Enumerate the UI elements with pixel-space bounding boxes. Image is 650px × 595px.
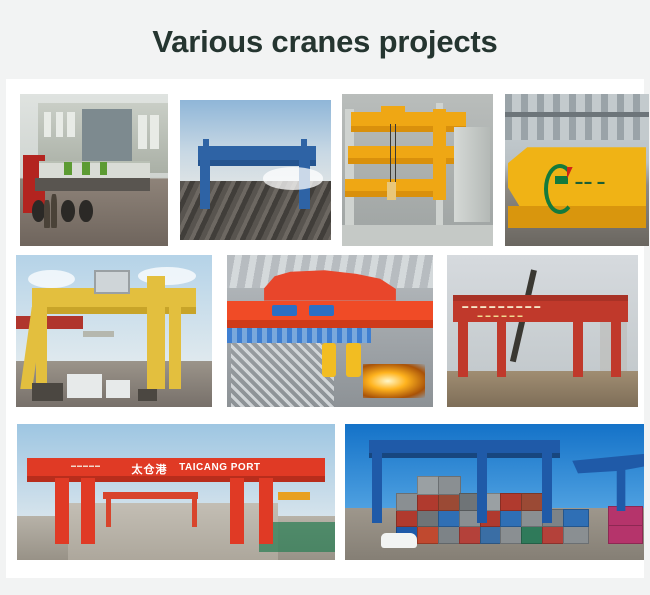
rtg-leg [477, 453, 487, 524]
gantry-leg [200, 150, 211, 209]
hoist-rope [390, 124, 391, 185]
lifting-hook-right [346, 343, 360, 376]
window [138, 115, 147, 148]
container-spreader [278, 492, 310, 500]
container [563, 525, 589, 543]
container [563, 509, 589, 527]
gantry-leg [573, 316, 583, 377]
window [67, 112, 74, 136]
gallery-row-2: ▬▬▬▬▬▬▬▬▬ ▬▬▬▬▬▬ [16, 255, 638, 407]
rtg-main-beam [369, 440, 560, 452]
company-logo-bar [555, 176, 568, 184]
container [417, 493, 440, 511]
gallery-photo-4[interactable]: G ▬▬ ▬ [505, 94, 649, 246]
container [500, 509, 523, 527]
crane-hook-block [387, 182, 396, 200]
container [396, 509, 419, 527]
truck-wheel [79, 200, 92, 221]
gantry-leg [81, 478, 95, 543]
gallery-row-3: 太仓港 TAICANG PORT ▬▬▬▬▬ [17, 424, 644, 560]
gantry-leg [55, 478, 69, 543]
container [608, 506, 643, 526]
gallery-photo-1[interactable] [20, 94, 168, 246]
rtg-leg [542, 453, 552, 524]
container [608, 524, 643, 544]
photo-2-scene [180, 100, 331, 240]
container [500, 525, 523, 543]
rtg-lower-beam [369, 453, 560, 458]
container [500, 493, 523, 511]
gallery-photo-3[interactable] [342, 94, 493, 246]
gantry-leg [497, 316, 507, 377]
girder-marking [100, 162, 107, 174]
gallery-photo-7[interactable]: ▬▬▬▬▬▬▬▬▬ ▬▬▬▬▬▬ [447, 255, 638, 407]
page-title: Various cranes projects [0, 24, 650, 60]
crane-girder-lower-flange [508, 206, 646, 227]
container [417, 525, 440, 543]
window [44, 112, 51, 136]
photo-3-scene [342, 94, 493, 246]
container [521, 525, 544, 543]
warning-plate-left [272, 305, 297, 316]
workshop-floor [342, 225, 493, 246]
rtg-leg [372, 453, 382, 524]
workshop-panel [454, 127, 490, 221]
workshop-roof [505, 94, 649, 140]
truck-wheel [61, 200, 74, 221]
white-car [381, 533, 417, 548]
gallery-photo-9[interactable] [345, 424, 644, 560]
gallery-photo-6[interactable] [227, 255, 433, 407]
roof-truss [505, 112, 649, 117]
overhead-crane-girder-shadow [351, 126, 466, 132]
container [396, 493, 419, 511]
crane-trolley [381, 106, 405, 115]
photo-4-scene: G ▬▬ ▬ [505, 94, 649, 246]
truck-dark [138, 389, 158, 401]
background-building [16, 316, 83, 330]
hoist-rope [395, 124, 396, 185]
gallery-page: Various cranes projects [0, 0, 650, 595]
gantry-leg [611, 316, 621, 377]
container [459, 525, 482, 543]
crane-end-carriage [433, 109, 447, 200]
terminal-roadway [68, 503, 278, 560]
second-gantry-leg [192, 497, 197, 527]
cloud [263, 167, 323, 189]
container [480, 525, 503, 543]
photo-1-scene [20, 94, 168, 246]
plant-scaffolding [231, 343, 334, 407]
container [438, 476, 461, 494]
truck-dark [32, 383, 63, 401]
photo-9-scene [345, 424, 644, 560]
gallery-photo-5[interactable] [16, 255, 212, 407]
gantry-lower-beam [27, 476, 326, 483]
factory-wall-dark [82, 109, 132, 167]
window [150, 115, 159, 148]
container [438, 493, 461, 511]
worker-figure [51, 194, 57, 227]
window [56, 112, 63, 136]
container [438, 509, 461, 527]
girder-marking [64, 162, 71, 174]
gantry-leg [458, 316, 468, 377]
second-gantry-leg [106, 497, 111, 527]
girder-marking [82, 162, 89, 174]
gallery-photo-2[interactable] [180, 100, 331, 240]
operator-cabin [94, 270, 129, 294]
photo-5-scene [16, 255, 212, 407]
container [438, 525, 461, 543]
gallery-photo-8[interactable]: 太仓港 TAICANG PORT ▬▬▬▬▬ [17, 424, 335, 560]
background-blue-wall [227, 328, 371, 343]
container [542, 525, 565, 543]
gantry-leg [259, 478, 273, 543]
second-gantry-beam [103, 492, 198, 499]
warning-plate-right [309, 305, 334, 316]
gantry-leg [230, 478, 244, 543]
worker-figure [44, 200, 50, 227]
gantry-leg-right [147, 276, 165, 388]
gallery-row-1: G ▬▬ ▬ [20, 94, 649, 246]
trailer-bed [35, 178, 150, 192]
gantry-main-beam [27, 458, 326, 476]
container [521, 493, 544, 511]
photo-7-scene: ▬▬▬▬▬▬▬▬▬ ▬▬▬▬▬▬ [447, 255, 638, 407]
truck [67, 374, 102, 398]
gantry-lower-beam [198, 160, 316, 166]
container [521, 509, 544, 527]
gantry-leg-right-outer [169, 301, 181, 389]
gallery-card: G ▬▬ ▬ [6, 79, 644, 578]
photo-6-scene [227, 255, 433, 407]
lifting-spreader [83, 331, 114, 337]
container [417, 509, 440, 527]
container [417, 476, 440, 494]
ground [447, 371, 638, 407]
photo-8-scene: 太仓港 TAICANG PORT ▬▬▬▬▬ [17, 424, 335, 560]
truck [106, 380, 130, 398]
lifting-hook-left [322, 343, 336, 376]
crane-girder-flange [227, 320, 433, 328]
gantry-main-beam [453, 301, 629, 322]
molten-metal-glow [363, 364, 425, 397]
gantry-main-beam [198, 146, 316, 160]
overhead-crane-girder [351, 112, 466, 126]
